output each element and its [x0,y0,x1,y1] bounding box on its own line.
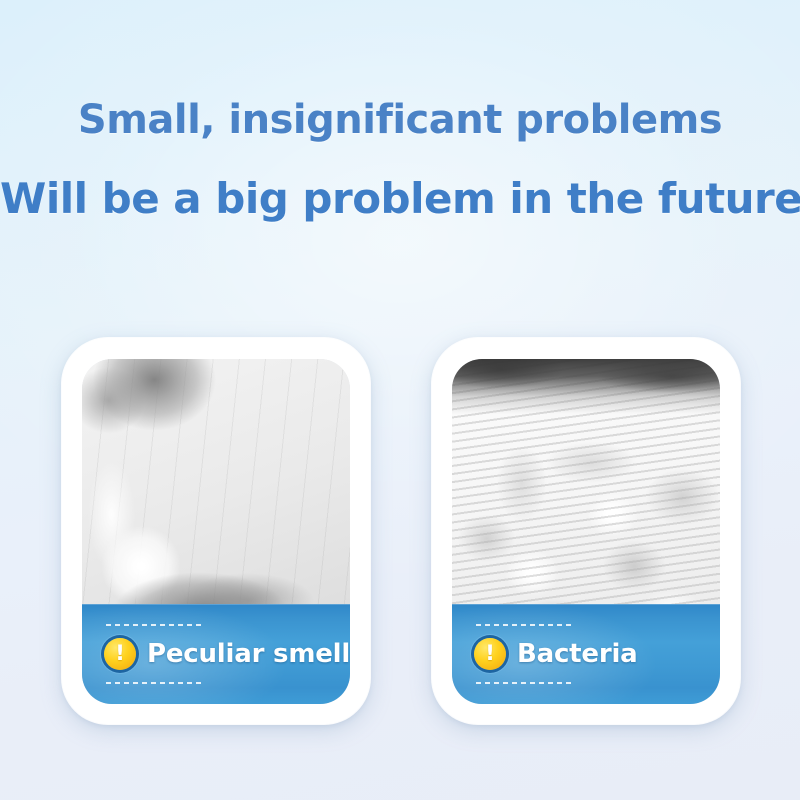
exclamation-glyph: ! [485,643,495,664]
card-label-text: Bacteria [517,639,638,669]
warning-exclamation-icon: ! [474,638,506,670]
card-media-frame: ! Peculiar smell [82,359,350,704]
card-label-content: ! Peculiar smell [104,604,350,704]
exclamation-glyph: ! [115,643,125,664]
problem-card-bacteria[interactable]: ! Bacteria [432,338,740,724]
card-label-bar: ! Bacteria [452,604,720,704]
card-media-frame: ! Bacteria [452,359,720,704]
card-label-text: Peculiar smell [147,639,350,669]
card-label-bar: ! Peculiar smell [82,604,350,704]
promo-poster: Small, insignificant problems Will be a … [0,0,800,800]
problem-cards-row: ! Peculiar smell ! [62,338,740,724]
problem-card-peculiar-smell[interactable]: ! Peculiar smell [62,338,370,724]
headline-line-1: Small, insignificant problems [0,92,800,148]
card-label-content: ! Bacteria [474,604,638,704]
warning-exclamation-icon: ! [104,638,136,670]
headline-line-2: Will be a big problem in the future [0,170,800,228]
headline-block: Small, insignificant problems Will be a … [0,92,800,228]
